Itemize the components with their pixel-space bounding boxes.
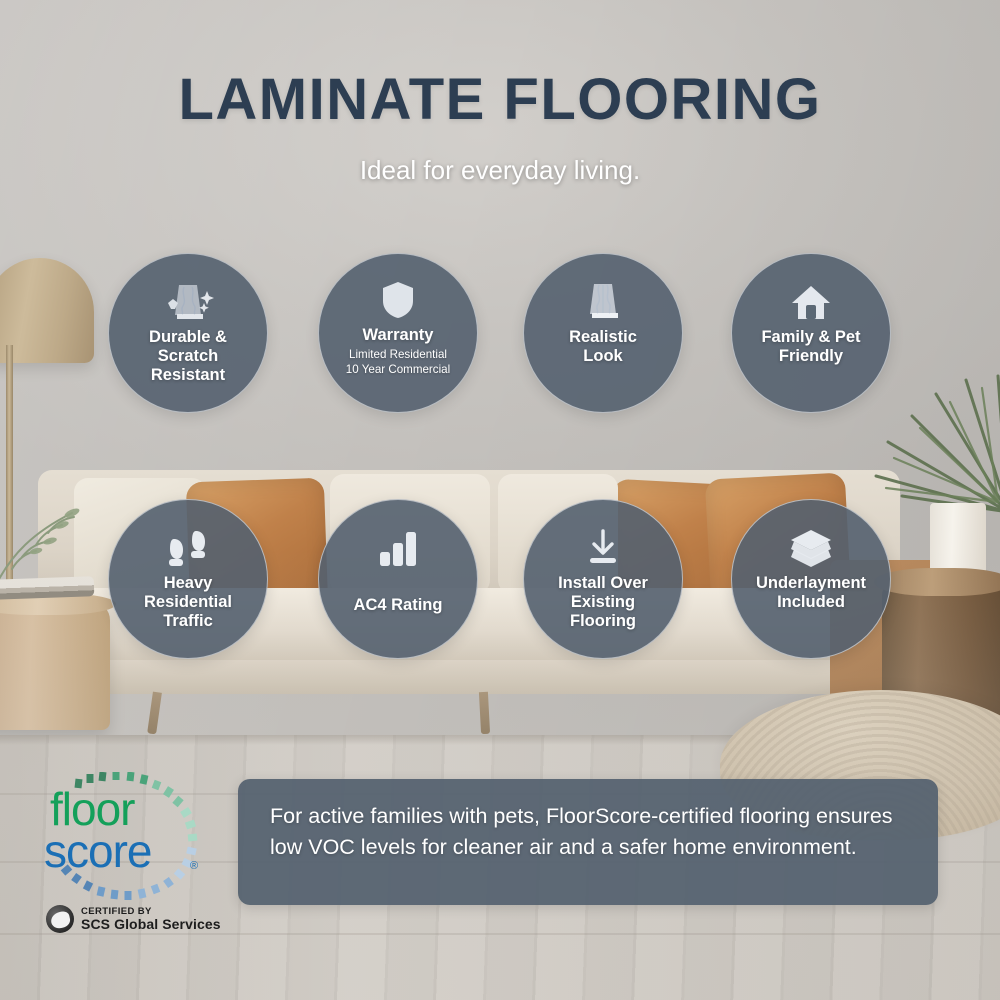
feature-label: AC4 Rating [344, 596, 453, 615]
feature-label: Family & Pet Friendly [751, 328, 870, 366]
registered-trademark-mark: ® [190, 860, 198, 872]
feature-label: Install Over Existing Flooring [548, 574, 658, 631]
stacked-layers-icon [788, 526, 834, 570]
certifier-name: SCS Global Services [81, 917, 221, 932]
floorscore-logo: floor score ® CERTIFIED BY SCS Global Se… [42, 776, 232, 936]
feature-label: Heavy Residential Traffic [134, 574, 242, 631]
footer-caption: For active families with pets, FloorScor… [238, 779, 938, 905]
scs-globe-icon [46, 905, 74, 933]
feature-badge-install-over-existing-flooring[interactable]: Install Over Existing Flooring [523, 499, 683, 659]
feature-label: Durable & Scratch Resistant [139, 328, 237, 385]
page-title: LAMINATE FLOORING [0, 66, 1000, 133]
feature-badge-ac4-rating[interactable]: AC4 Rating [318, 499, 478, 659]
wood-plank-sparkle-icon [160, 280, 216, 324]
feature-badge-warranty[interactable]: Warranty Limited Residential 10 Year Com… [318, 253, 478, 413]
feature-badge-family-pet-friendly[interactable]: Family & Pet Friendly [731, 253, 891, 413]
feature-badge-durable-scratch-resistant[interactable]: Durable & Scratch Resistant [108, 253, 268, 413]
feature-label: Warranty [353, 326, 444, 345]
feature-sublabel: Limited Residential 10 Year Commercial [340, 348, 456, 377]
shield-icon [378, 278, 418, 322]
page-subtitle: Ideal for everyday living. [0, 155, 1000, 186]
wood-plank-grain-icon [581, 280, 625, 324]
feature-badge-heavy-residential-traffic[interactable]: Heavy Residential Traffic [108, 499, 268, 659]
bar-chart-icon [376, 526, 420, 570]
feature-label: Realistic Look [559, 328, 647, 366]
scs-certification: CERTIFIED BY SCS Global Services [46, 902, 236, 936]
feature-label: Underlayment Included [746, 574, 876, 612]
floorscore-word-score: score [44, 824, 151, 878]
feature-badge-realistic-look[interactable]: Realistic Look [523, 253, 683, 413]
download-install-icon [581, 526, 625, 570]
footprints-icon [163, 526, 213, 570]
feature-badge-underlayment-included[interactable]: Underlayment Included [731, 499, 891, 659]
house-icon [788, 280, 834, 324]
